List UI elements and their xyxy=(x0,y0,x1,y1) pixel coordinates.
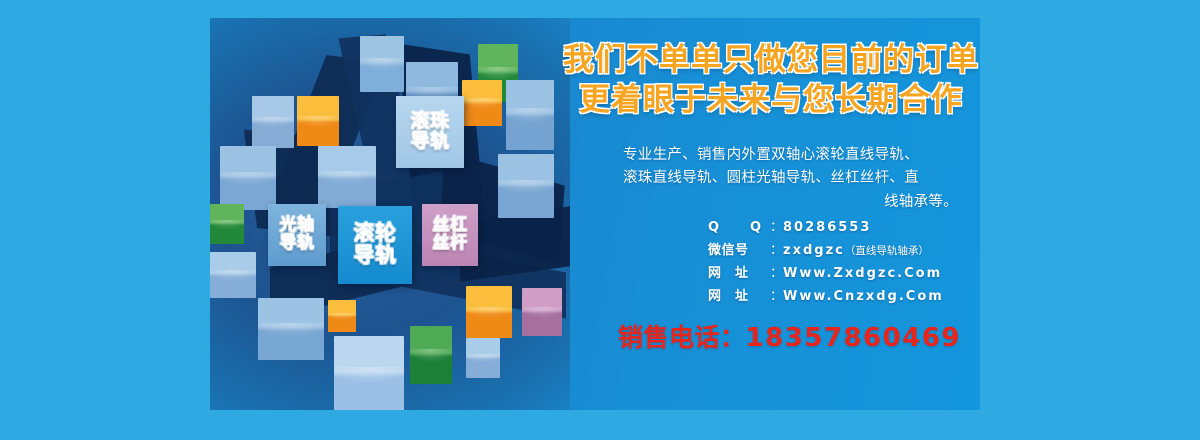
decor-cube xyxy=(318,146,376,208)
banner-stage: 滚珠 导轨 光轴 导轨 滚轮 导轨 丝杠 丝杆 xyxy=(0,0,1200,440)
description-line-2: 滚珠直线导轨、圆柱光轴导轨、丝杠丝杆、直 xyxy=(566,167,976,190)
contact-label-website-2: 网 址 xyxy=(708,285,770,308)
description: 专业生产、销售内外置双轴心滚轮直线导轨、 滚珠直线导轨、圆柱光轴导轨、丝杠丝杆、… xyxy=(566,144,976,214)
decor-cube-green xyxy=(210,204,244,244)
contact-label-wechat: 微信号 xyxy=(708,239,770,262)
decor-cube-orange xyxy=(466,286,512,338)
product-cube-sigang-sigan[interactable]: 丝杠 丝杆 xyxy=(422,204,478,266)
contact-value-qq[interactable]: 80286553 xyxy=(783,216,871,239)
contact-value-website-1[interactable]: Www.Zxdgzc.Com xyxy=(783,262,942,285)
product-cube-label-line2: 丝杆 xyxy=(433,235,468,253)
decor-cube xyxy=(252,96,294,148)
contact-value-wechat[interactable]: zxdgzc xyxy=(783,239,845,262)
decor-cube-orange xyxy=(328,300,356,332)
headline-line-1: 我们不单单只做您目前的订单 xyxy=(562,40,980,80)
decor-cube-green xyxy=(410,326,452,384)
contact-value-website-2[interactable]: Www.Cnzxdg.Com xyxy=(783,285,944,308)
sales-phone-number[interactable]: 18357860469 xyxy=(746,323,962,353)
cube-face xyxy=(220,146,276,210)
promo-banner-panel: 滚珠 导轨 光轴 导轨 滚轮 导轨 丝杠 丝杆 xyxy=(210,18,980,410)
contact-label-website-1: 网 址 xyxy=(708,262,770,285)
description-line-3: 线轴承等。 xyxy=(566,191,976,214)
decor-cube xyxy=(210,252,256,298)
decor-cube xyxy=(220,146,276,210)
cube-face xyxy=(210,252,256,298)
headline: 我们不单单只做您目前的订单 更着眼于未来与您长期合作 xyxy=(562,40,980,121)
cube-face xyxy=(466,338,500,378)
sales-phone[interactable]: 销售电话：18357860469 xyxy=(618,318,980,354)
contact-row-website-2: 网 址 ： Www.Cnzxdg.Com xyxy=(708,285,980,308)
cube-face xyxy=(506,80,554,150)
contact-row-wechat: 微信号 ： zxdgzc （直线导轨轴承） xyxy=(708,239,980,262)
product-cube-guangzhou-daogui[interactable]: 光轴 导轨 xyxy=(268,204,326,266)
decor-cube xyxy=(360,36,404,92)
cube-cluster-artwork: 滚珠 导轨 光轴 导轨 滚轮 导轨 丝杠 丝杆 xyxy=(210,18,570,410)
decor-cube xyxy=(334,336,404,410)
contact-separator: ： xyxy=(770,285,783,308)
cube-face xyxy=(258,298,324,360)
contact-block: Q Q ： 80286553 微信号 ： zxdgzc （直线导轨轴承） 网 址… xyxy=(708,216,980,309)
cube-face xyxy=(360,36,404,92)
product-cube-label-line2: 导轨 xyxy=(354,245,397,267)
product-cube-label-line2: 导轨 xyxy=(280,235,315,253)
cube-face xyxy=(252,96,294,148)
contact-note-wechat: （直线导轨轴承） xyxy=(845,242,929,261)
description-line-1: 专业生产、销售内外置双轴心滚轮直线导轨、 xyxy=(566,144,976,167)
product-cube-label-line2: 导轨 xyxy=(410,132,449,152)
product-cube-gunlun-daogui[interactable]: 滚轮 导轨 xyxy=(338,206,412,284)
decor-cube-orange xyxy=(297,96,339,146)
decor-cube xyxy=(258,298,324,360)
headline-line-2: 更着眼于未来与您长期合作 xyxy=(562,80,980,120)
product-cube-label-line1: 滚轮 xyxy=(354,223,397,245)
contact-separator: ： xyxy=(770,239,783,262)
contact-separator: ： xyxy=(770,216,783,239)
cube-face xyxy=(328,300,356,332)
decor-cube-orange xyxy=(462,80,502,126)
cube-face xyxy=(210,204,244,244)
cube-face xyxy=(498,154,554,218)
decor-cube xyxy=(506,80,554,150)
contact-row-qq: Q Q ： 80286553 xyxy=(708,216,980,239)
decor-cube xyxy=(466,338,500,378)
decor-cube-pink xyxy=(522,288,562,336)
sales-phone-label: 销售电话： xyxy=(618,323,746,352)
cube-face xyxy=(410,326,452,384)
cube-face xyxy=(334,336,404,410)
cube-face xyxy=(522,288,562,336)
contact-row-website-1: 网 址 ： Www.Zxdgzc.Com xyxy=(708,262,980,285)
cube-face xyxy=(466,286,512,338)
cube-face xyxy=(318,146,376,208)
banner-content: 我们不单单只做您目前的订单 更着眼于未来与您长期合作 专业生产、销售内外置双轴心… xyxy=(562,18,980,410)
contact-label-qq: Q Q xyxy=(708,216,770,239)
product-cube-gunzhu-daogui[interactable]: 滚珠 导轨 xyxy=(396,96,464,168)
contact-separator: ： xyxy=(770,262,783,285)
decor-cube xyxy=(498,154,554,218)
cube-face xyxy=(297,96,339,146)
cube-face xyxy=(462,80,502,126)
